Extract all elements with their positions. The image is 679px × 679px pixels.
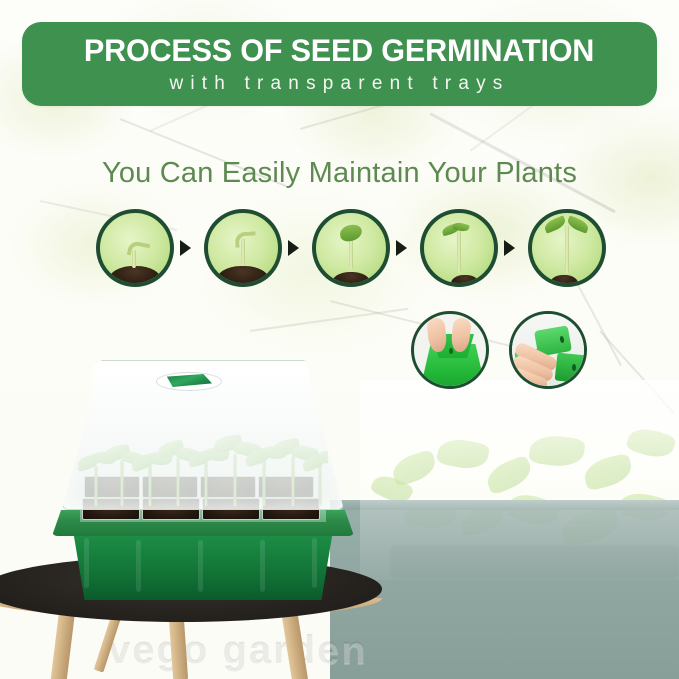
product-photo [38, 352, 368, 612]
leaf-icon [566, 215, 591, 233]
banner-title: PROCESS OF SEED GERMINATION [84, 35, 594, 67]
stage-arrow-icon [504, 240, 515, 256]
title-banner: PROCESS OF SEED GERMINATION with transpa… [22, 22, 657, 106]
germination-stage-5 [528, 209, 606, 287]
background-planter-lip [330, 500, 679, 510]
soil-icon [451, 275, 479, 287]
soil-icon [332, 272, 370, 287]
drain-hole-icon [449, 348, 453, 354]
germination-stage-4 [420, 209, 498, 287]
germination-stage-row [96, 209, 596, 293]
sprout-icon [338, 225, 364, 269]
product-infographic: vego garden PROCESS OF SEED GERMINATION … [0, 0, 679, 679]
sprout-icon [230, 232, 256, 266]
soil-icon [216, 266, 269, 287]
stage-arrow-icon [288, 240, 299, 256]
detail-shot-hand-pressing [411, 311, 489, 389]
germination-stage-3 [312, 209, 390, 287]
page-headline: You Can Easily Maintain Your Plants [0, 157, 679, 190]
leaf-icon [543, 215, 568, 233]
finger-shape [426, 317, 447, 353]
banner-subtitle: with transparent trays [169, 74, 509, 93]
drain-hole-icon [572, 364, 576, 371]
leaf-icon [339, 224, 363, 243]
sprout-icon [550, 219, 584, 273]
tray-cell-shape [555, 353, 587, 384]
soil-icon [550, 275, 578, 287]
germination-stage-1 [96, 209, 174, 287]
detail-shot-hand-lifting [509, 311, 587, 389]
product-tray-base [62, 532, 344, 600]
stage-arrow-icon [396, 240, 407, 256]
sprout-icon [121, 242, 147, 268]
soil-icon [108, 266, 161, 287]
stage-arrow-icon [180, 240, 191, 256]
sprout-icon [445, 223, 473, 273]
germination-stage-2 [204, 209, 282, 287]
